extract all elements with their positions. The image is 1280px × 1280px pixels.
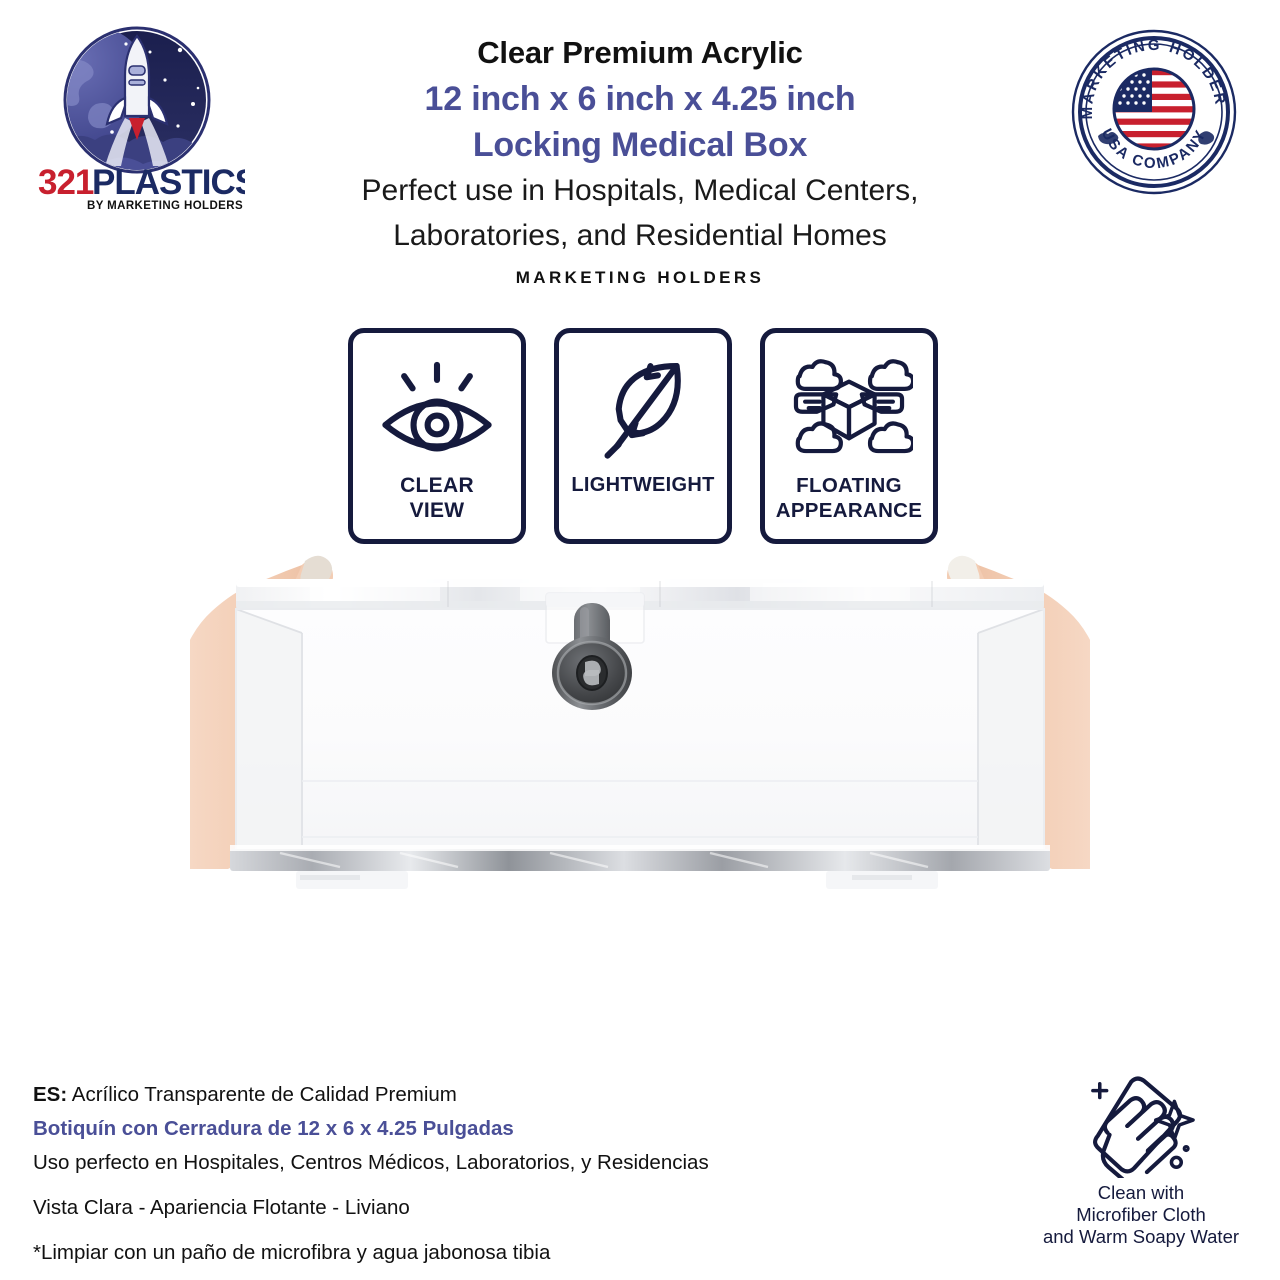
care-instructions: Clean with Microfiber Cloth and Warm Soa… bbox=[1016, 1068, 1266, 1248]
feature-label-line-2: APPEARANCE bbox=[776, 499, 923, 522]
feature-label-floating-appearance: FLOATING APPEARANCE bbox=[772, 473, 927, 523]
care-line-1: Clean with bbox=[1016, 1182, 1266, 1204]
header-line-2-dimensions: 12 inch x 6 inch x 4.25 inch bbox=[280, 76, 1000, 122]
svg-text:PLASTICS: PLASTICS bbox=[92, 163, 245, 202]
header-subtitle-line-2: Laboratories, and Residential Homes bbox=[280, 213, 1000, 258]
spanish-line-1: ES: Acrílico Transparente de Calidad Pre… bbox=[33, 1078, 853, 1112]
feature-label-line-1: FLOATING bbox=[796, 474, 902, 497]
header-brand-line: MARKETING HOLDERS bbox=[280, 268, 1000, 288]
care-line-3: and Warm Soapy Water bbox=[1016, 1226, 1266, 1248]
spanish-line-2-product: Botiquín con Cerradura de 12 x 6 x 4.25 … bbox=[33, 1112, 853, 1146]
feature-badge-clear-view: CLEAR VIEW bbox=[348, 328, 526, 544]
feature-label-line-1: LIGHTWEIGHT bbox=[571, 474, 714, 496]
eye-icon bbox=[376, 349, 498, 469]
care-text: Clean with Microfiber Cloth and Warm Soa… bbox=[1016, 1182, 1266, 1248]
header: 321 PLASTICS BY MARKETING HOLDERS MARKET… bbox=[0, 0, 1280, 300]
winged-box-icon bbox=[785, 349, 913, 469]
feature-label-line-1: CLEAR bbox=[400, 474, 474, 497]
header-text-block: Clear Premium Acrylic 12 inch x 6 inch x… bbox=[280, 30, 1000, 288]
feature-badge-floating-appearance: FLOATING APPEARANCE bbox=[760, 328, 938, 544]
spanish-lang-label: ES: bbox=[33, 1083, 67, 1106]
feature-badge-lightweight: LIGHTWEIGHT bbox=[554, 328, 732, 544]
care-line-2: Microfiber Cloth bbox=[1016, 1204, 1266, 1226]
acrylic-locking-box bbox=[230, 579, 1050, 889]
feather-icon bbox=[587, 349, 699, 469]
feature-label-line-2: VIEW bbox=[410, 499, 465, 522]
logo-321plastics: 321 PLASTICS BY MARKETING HOLDERS bbox=[30, 22, 245, 212]
hand-wipe-sparkle-icon bbox=[1016, 1068, 1266, 1180]
spanish-line-5-care: *Limpiar con un paño de microfibra y agu… bbox=[33, 1236, 853, 1270]
svg-text:321: 321 bbox=[38, 163, 94, 202]
spanish-line-3-usage: Uso perfecto en Hospitales, Centros Médi… bbox=[33, 1146, 853, 1180]
header-subtitle-line-1: Perfect use in Hospitals, Medical Center… bbox=[280, 168, 1000, 213]
header-line-3-product: Locking Medical Box bbox=[280, 122, 1000, 168]
spanish-line-4-features: Vista Clara - Apariencia Flotante - Livi… bbox=[33, 1191, 853, 1225]
svg-text:BY MARKETING HOLDERS: BY MARKETING HOLDERS bbox=[87, 200, 243, 212]
infographic-canvas: 321 PLASTICS BY MARKETING HOLDERS MARKET… bbox=[0, 0, 1280, 1280]
product-photo bbox=[190, 545, 1090, 1065]
header-line-1: Clear Premium Acrylic bbox=[280, 30, 1000, 76]
spanish-description: ES: Acrílico Transparente de Calidad Pre… bbox=[33, 1078, 853, 1270]
feature-badges: CLEAR VIEW LIGHTWEIGHT bbox=[348, 328, 938, 544]
feature-label-clear-view: CLEAR VIEW bbox=[396, 473, 478, 523]
feature-label-lightweight: LIGHTWEIGHT bbox=[567, 473, 718, 498]
spanish-line-1-text: Acrílico Transparente de Calidad Premium bbox=[72, 1083, 457, 1106]
logo-usa-seal: MARKETING HOLDERS USA COMPANY bbox=[1070, 28, 1238, 196]
